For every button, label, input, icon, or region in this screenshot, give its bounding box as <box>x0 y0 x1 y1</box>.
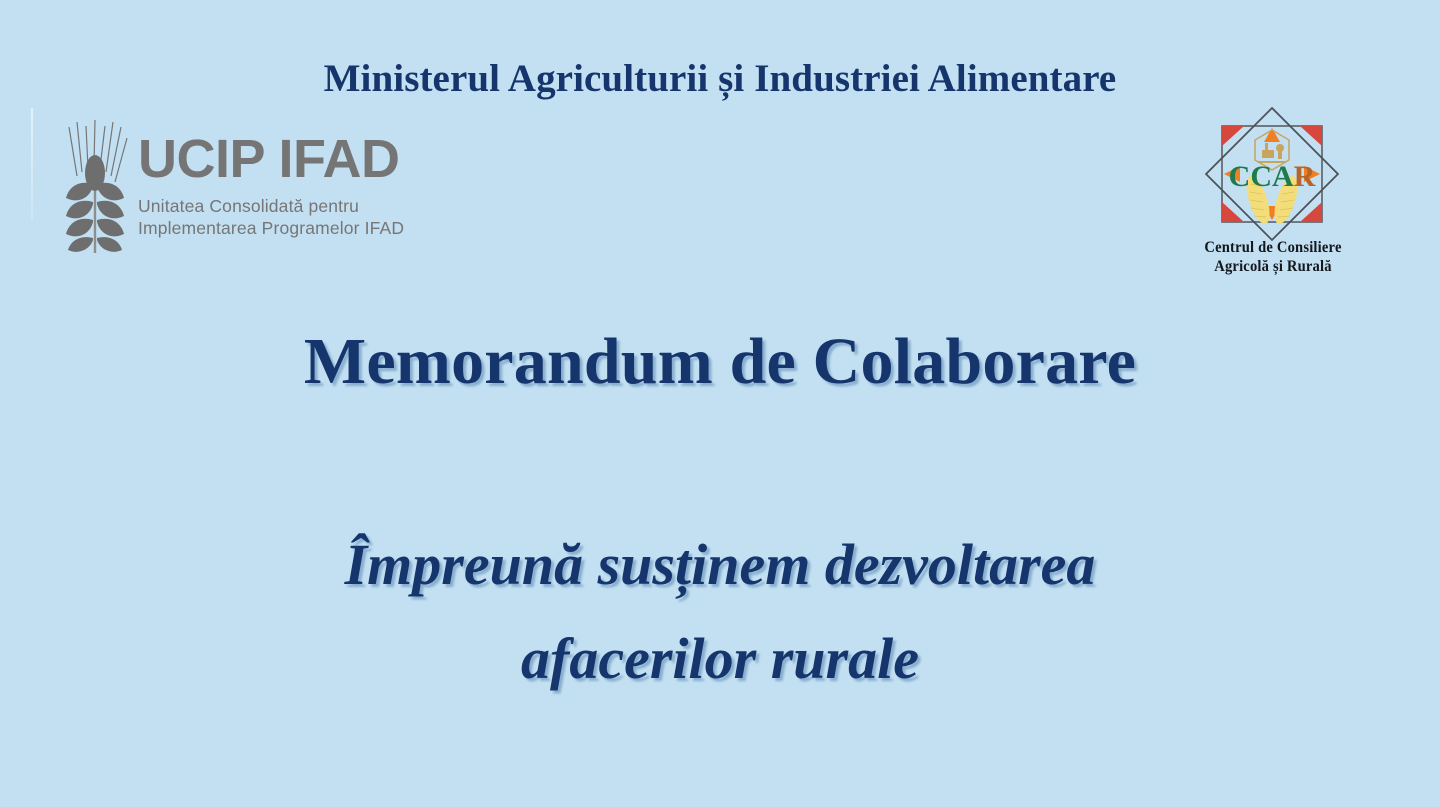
wheat-stalk-icon <box>60 118 138 253</box>
ministry-title: Ministerul Agriculturii și Industriei Al… <box>0 54 1440 104</box>
ucip-text-block: UCIP IFAD Unitatea Consolidată pentru Im… <box>138 132 458 239</box>
tagline: Împreună susținem dezvoltarea afacerilor… <box>0 518 1440 706</box>
ccar-logo: CCAR Centrul de Consiliere Agricolă și R… <box>1168 104 1378 279</box>
ucip-subtitle: Unitatea Consolidată pentru Implementare… <box>138 195 458 239</box>
ccar-letters: CCAR <box>1229 160 1316 193</box>
ccar-caption-line1: Centrul de Consiliere <box>1174 238 1371 257</box>
ccar-emblem-icon: CCAR <box>1192 104 1352 244</box>
ccar-caption: Centrul de Consiliere Agricolă și Rurală <box>1174 238 1371 276</box>
tagline-line-1: Împreună susținem dezvoltarea <box>0 518 1440 612</box>
ucip-subtitle-line1: Unitatea Consolidată pentru <box>138 195 458 217</box>
ucip-ifad-logo: UCIP IFAD Unitatea Consolidată pentru Im… <box>60 118 460 253</box>
main-title: Memorandum de Colaborare <box>0 322 1440 402</box>
tagline-line-2: afacerilor rurale <box>0 612 1440 706</box>
ucip-wordmark: UCIP IFAD <box>138 132 458 186</box>
presentation-slide: Ministerul Agriculturii și Industriei Al… <box>0 0 1440 807</box>
scan-artifact <box>31 108 33 220</box>
ccar-caption-line2: Agricolă și Rurală <box>1174 257 1371 276</box>
ucip-subtitle-line2: Implementarea Programelor IFAD <box>138 217 458 239</box>
